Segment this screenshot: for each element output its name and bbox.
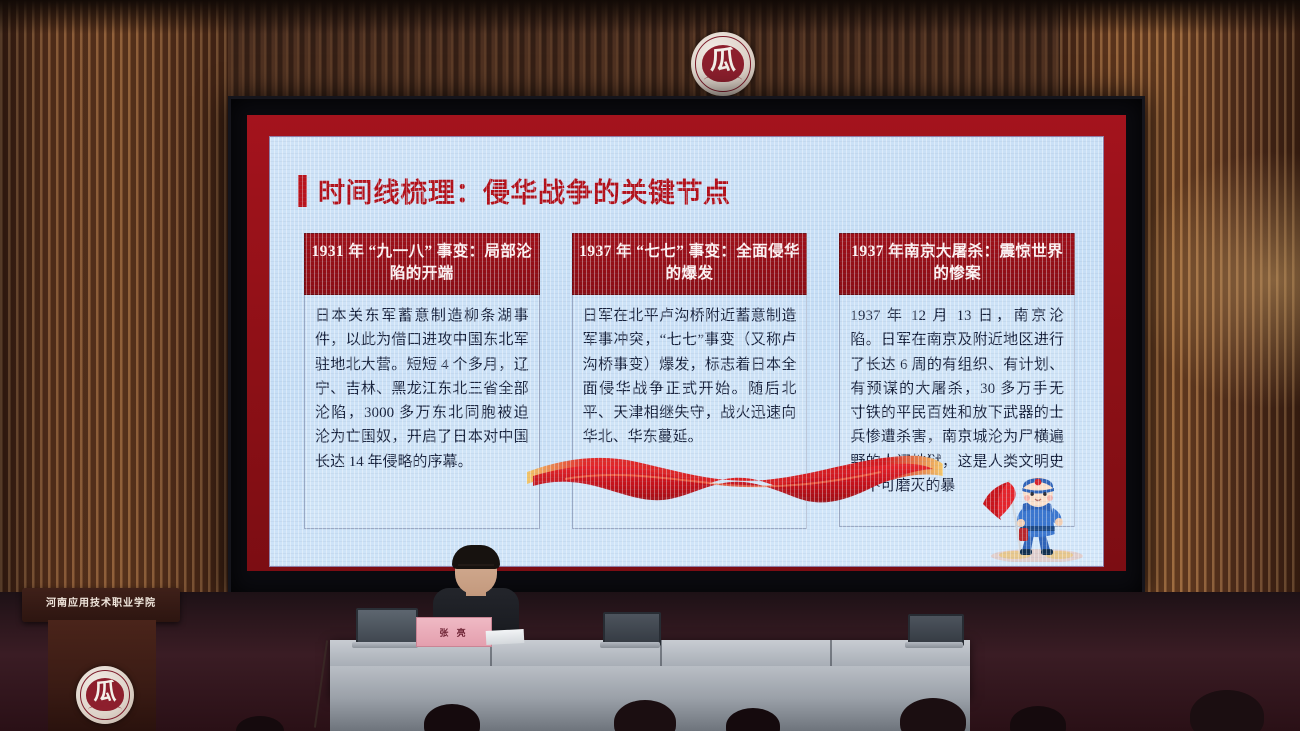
podium-school-emblem: 瓜 (76, 666, 134, 724)
slide-content-area: 时间线梳理：侵华战争的关键节点 1931 年 “九一八” 事变：局部沦陷的开端 … (269, 136, 1104, 567)
laptop-base (600, 642, 660, 648)
speaker-podium: 河南应用技术职业学院 瓜 (22, 588, 180, 731)
emblem-glyph: 瓜 (691, 48, 755, 74)
red-silk-ribbon-icon (525, 446, 945, 508)
presenter-nameplate: 张 亮 (416, 617, 492, 647)
laptop-center (600, 612, 660, 648)
laptop-screen (603, 612, 661, 646)
laptop-screen (356, 608, 418, 646)
laptop-base (905, 642, 963, 648)
emblem-glyph: 瓜 (76, 680, 134, 703)
cartoon-soldier-icon (975, 466, 1093, 562)
slide-title: 时间线梳理：侵华战争的关键节点 (298, 171, 731, 210)
card-heading: 1937 年 “七七” 事变：全面侵华的爆发 (572, 233, 808, 295)
timeline-card-1931: 1931 年 “九一八” 事变：局部沦陷的开端 日本关东军蓄意制造柳条湖事件，以… (304, 233, 540, 529)
laptop-base (352, 642, 418, 648)
wall-light-glow (1130, 150, 1300, 410)
glasses-icon (458, 564, 494, 574)
wall-school-emblem: 瓜 (691, 32, 755, 96)
card-body-text: 日本关东军蓄意制造柳条湖事件，以此为借口进攻中国东北军驻地北大营。短短 4 个多… (304, 295, 540, 529)
podium-label: 河南应用技术职业学院 (22, 594, 180, 609)
presentation-slide: 时间线梳理：侵华战争的关键节点 1931 年 “九一八” 事变：局部沦陷的开端 … (247, 115, 1126, 571)
card-heading: 1931 年 “九一八” 事变：局部沦陷的开端 (304, 233, 540, 295)
laptop-left (352, 608, 418, 648)
projection-screen: 时间线梳理：侵华战争的关键节点 1931 年 “九一八” 事变：局部沦陷的开端 … (228, 96, 1145, 598)
podium-top: 河南应用技术职业学院 (22, 588, 180, 622)
slide-title-text: 时间线梳理：侵华战争的关键节点 (318, 171, 731, 210)
desk-papers (486, 629, 525, 645)
ceiling-shadow (0, 0, 1300, 34)
lecture-hall-scene: 瓜 时间线梳理：侵华战争的关键节点 1931 年 “九一八” 事变：局部沦陷的开… (0, 0, 1300, 731)
card-heading: 1937 年南京大屠杀：震惊世界的惨案 (839, 233, 1075, 295)
left-wood-panel (0, 0, 228, 620)
laptop-right (905, 614, 963, 648)
title-accent-bar (298, 175, 307, 207)
